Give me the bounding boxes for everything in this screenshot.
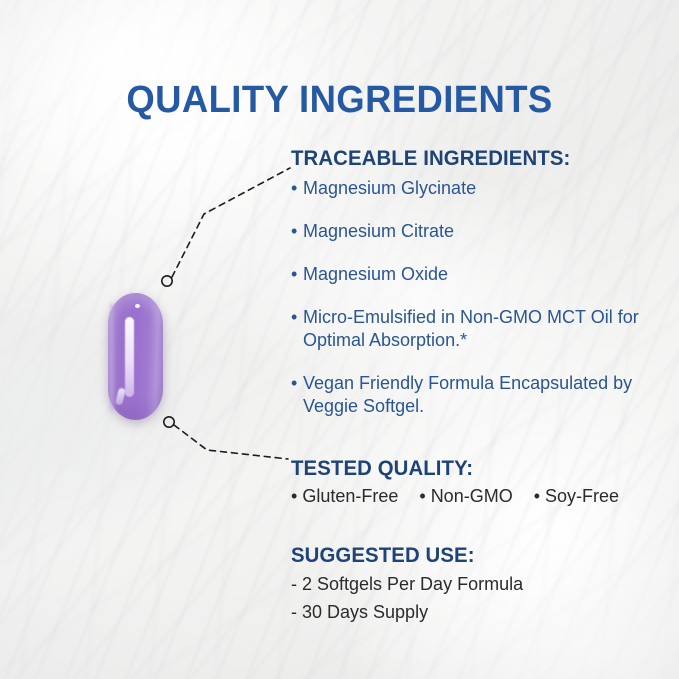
section-tested-quality: TESTED QUALITY: Gluten-Free Non-GMO Soy-… <box>291 456 671 508</box>
softgel-capsule-image <box>106 291 166 423</box>
section-heading-suggested-use: SUGGESTED USE: <box>291 543 660 569</box>
content-column: TRACEABLE INGREDIENTS: Magnesium Glycina… <box>291 146 671 625</box>
claim-item: Non-GMO <box>419 486 512 506</box>
product-infographic: QUALITY INGREDIENTS TRACEABLE INGREDIENT… <box>0 0 679 679</box>
list-item: Vegan Friendly Formula Encapsulated by V… <box>291 372 671 418</box>
section-traceable-ingredients: TRACEABLE INGREDIENTS: Magnesium Glycina… <box>291 146 671 418</box>
list-item: Magnesium Citrate <box>291 220 671 243</box>
section-heading-tested-quality: TESTED QUALITY: <box>291 456 660 482</box>
claim-item: Soy-Free <box>534 486 619 506</box>
traceable-ingredient-list: Magnesium Glycinate Magnesium Citrate Ma… <box>291 177 671 418</box>
capsule-body <box>108 293 163 420</box>
suggested-use-line: - 2 Softgels Per Day Formula <box>291 572 671 597</box>
tested-quality-claims: Gluten-Free Non-GMO Soy-Free <box>291 485 671 508</box>
list-item: Magnesium Glycinate <box>291 177 671 200</box>
list-item: Magnesium Oxide <box>291 263 671 286</box>
page-title: QUALITY INGREDIENTS <box>14 78 666 122</box>
capsule-left-edge-highlight <box>110 303 116 411</box>
section-suggested-use: SUGGESTED USE: - 2 Softgels Per Day Form… <box>291 543 671 625</box>
claim-item: Gluten-Free <box>291 486 398 506</box>
capsule-top-highlight-dot <box>135 304 140 308</box>
capsule-specular-stripe <box>125 317 134 397</box>
list-item: Micro-Emulsified in Non-GMO MCT Oil for … <box>291 306 671 352</box>
suggested-use-line: - 30 Days Supply <box>291 600 671 625</box>
section-heading-traceable: TRACEABLE INGREDIENTS: <box>291 146 660 172</box>
capsule-bottom-highlight <box>115 387 126 405</box>
